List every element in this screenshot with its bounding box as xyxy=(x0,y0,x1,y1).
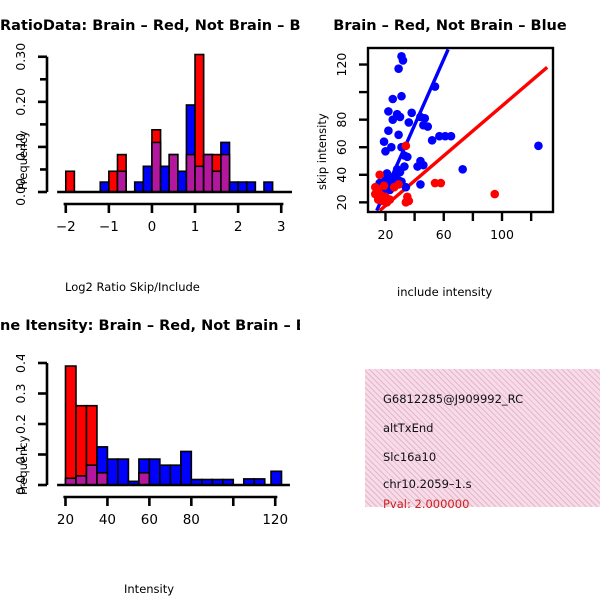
histogram-bar xyxy=(65,366,75,485)
histogram-bar xyxy=(230,182,239,192)
ratio-histogram-plot: 0.000.100.200.30−2−10123 xyxy=(0,40,300,240)
histogram-bar xyxy=(170,465,180,485)
scatter-yaxis-label: skip intensity xyxy=(315,113,329,190)
info-pvalue: Pval: 2.000000 xyxy=(383,497,469,511)
info-probe-id: G6812285@J909992_RC xyxy=(383,392,523,406)
scatter-point xyxy=(423,122,432,131)
panel-info: G6812285@J909992_RC altTxEnd Slc16a10 ch… xyxy=(300,300,600,600)
ratio-xtick-label: 1 xyxy=(191,219,200,235)
histogram-bar-overlap xyxy=(212,171,221,192)
info-gene-name: Slc16a10 xyxy=(383,450,436,464)
histogram-bar xyxy=(66,171,75,192)
histogram-bar-overlap xyxy=(76,476,86,485)
histogram-bar-overlap xyxy=(221,155,230,192)
scatter-point xyxy=(380,137,389,146)
intensity-xtick-label: 120 xyxy=(262,512,288,528)
intensity-ytick-label: 0.3 xyxy=(13,384,28,404)
scatter-point xyxy=(384,126,393,135)
histogram-bar xyxy=(118,459,128,485)
histogram-bar xyxy=(181,451,191,485)
histogram-bar-overlap xyxy=(139,473,149,485)
scatter-point xyxy=(447,132,456,141)
scatter-point xyxy=(394,131,403,140)
histogram-bar xyxy=(135,182,144,192)
histogram-bar xyxy=(109,171,118,192)
intensity-ytick-label: 0.4 xyxy=(13,355,28,373)
scatter-point xyxy=(402,198,411,207)
histogram-bar-overlap xyxy=(204,155,213,192)
scatter-point xyxy=(407,108,416,117)
ratio-histogram-xaxis-label: Log2 Ratio Skip/Include xyxy=(65,280,200,294)
histogram-bar-overlap xyxy=(117,171,126,192)
scatter-point xyxy=(399,56,408,65)
scatter-ytick-label: 40 xyxy=(334,167,349,183)
histogram-bar xyxy=(247,182,256,192)
scatter-point xyxy=(375,170,384,179)
histogram-bar xyxy=(107,459,117,485)
scatter-ytick-label: 80 xyxy=(334,112,349,128)
panel-intensity-histogram: ne Itensity: Brain – Red, Not Brain – B … xyxy=(0,300,300,600)
scatter-point xyxy=(402,142,411,151)
histogram-bar xyxy=(161,166,170,192)
histogram-bar xyxy=(160,465,170,485)
intensity-histogram-xaxis-label: Intensity xyxy=(124,582,174,596)
intensity-xtick-label: 20 xyxy=(57,512,74,528)
scatter-xtick-label: 100 xyxy=(490,227,514,240)
histogram-bar-overlap xyxy=(97,473,107,485)
scatter-xtick-label: 60 xyxy=(436,227,452,240)
histogram-bar-overlap xyxy=(169,155,178,192)
scatter-point xyxy=(394,64,403,73)
scatter-point xyxy=(428,136,437,145)
scatter-xtick-label: 20 xyxy=(378,227,394,240)
scatter-point xyxy=(383,198,392,207)
scatter-point xyxy=(416,180,425,189)
scatter-point xyxy=(393,165,402,174)
intensity-histogram-plot: 0.00.10.20.30.420406080120 xyxy=(0,355,300,545)
scatter-point xyxy=(380,182,389,191)
histogram-bar xyxy=(100,182,109,192)
scatter-point xyxy=(394,180,403,189)
scatter-point xyxy=(458,165,467,174)
info-event-type: altTxEnd xyxy=(383,421,433,435)
scatter-title: Brain – Red, Not Brain – Blue xyxy=(300,18,600,34)
scatter-xaxis-label: include intensity xyxy=(397,285,492,299)
ratio-xtick-label: 2 xyxy=(234,219,243,235)
scatter-ytick-label: 120 xyxy=(334,53,349,77)
ratio-ytick-label: 0.30 xyxy=(13,43,28,71)
scatter-point xyxy=(384,107,393,116)
histogram-bar xyxy=(143,166,152,192)
scatter-point xyxy=(404,118,413,127)
intensity-ytick-label: 0.2 xyxy=(13,414,28,434)
scatter-point xyxy=(413,162,422,171)
histogram-bar xyxy=(271,471,281,485)
scatter-point xyxy=(388,115,397,124)
histogram-bar xyxy=(264,182,273,192)
scatter-point xyxy=(381,147,390,156)
scatter-point xyxy=(437,179,446,188)
ratio-histogram-title: RatioData: Brain – Red, Not Brain – Blu xyxy=(0,18,300,34)
histogram-bar xyxy=(149,459,159,485)
intensity-xtick-label: 40 xyxy=(99,512,116,528)
scatter-point xyxy=(534,142,543,151)
histogram-bar-overlap xyxy=(152,142,161,192)
histogram-bar xyxy=(238,182,247,192)
scatter-point xyxy=(397,92,406,101)
scatter-content xyxy=(371,49,547,210)
scatter-plot-area: 204060801202060100 xyxy=(300,40,600,240)
ratio-histogram-svg: 0.000.100.200.30−2−10123 xyxy=(0,40,300,240)
intensity-histogram-yaxis-label: Frequency xyxy=(16,436,30,495)
scatter-svg: 204060801202060100 xyxy=(300,40,600,240)
ratio-xtick-label: −1 xyxy=(99,219,119,235)
info-coordinate: chr10.2059–1.s xyxy=(383,477,472,491)
scatter-point xyxy=(490,190,499,199)
histogram-bar-overlap xyxy=(86,465,96,485)
scatter-point xyxy=(388,95,397,104)
intensity-xtick-label: 60 xyxy=(141,512,158,528)
intensity-histogram-svg: 0.00.10.20.30.420406080120 xyxy=(0,355,300,545)
intensity-xtick-label: 80 xyxy=(183,512,200,528)
ratio-histogram-yaxis-label: Frequency xyxy=(16,131,30,190)
ratio-ytick-label: 0.20 xyxy=(13,88,28,116)
scatter-point xyxy=(403,153,412,162)
histogram-bar-overlap xyxy=(195,166,204,192)
histogram-bar xyxy=(178,171,187,192)
ratio-xtick-label: 0 xyxy=(148,219,157,235)
panel-ratio-histogram: RatioData: Brain – Red, Not Brain – Blu … xyxy=(0,0,300,300)
scatter-point xyxy=(431,82,440,91)
panel-scatter-plot: Brain – Red, Not Brain – Blue 2040608012… xyxy=(300,0,600,300)
scatter-ytick-label: 60 xyxy=(334,139,349,155)
histogram-bar-overlap xyxy=(186,155,195,192)
ratio-xtick-label: −2 xyxy=(56,219,76,235)
ratio-xtick-label: 3 xyxy=(277,219,286,235)
intensity-histogram-title: ne Itensity: Brain – Red, Not Brain – B xyxy=(0,318,300,334)
scatter-ytick-label: 20 xyxy=(334,194,349,210)
info-box: G6812285@J909992_RC altTxEnd Slc16a10 ch… xyxy=(365,369,600,507)
histogram-bar xyxy=(76,406,86,485)
